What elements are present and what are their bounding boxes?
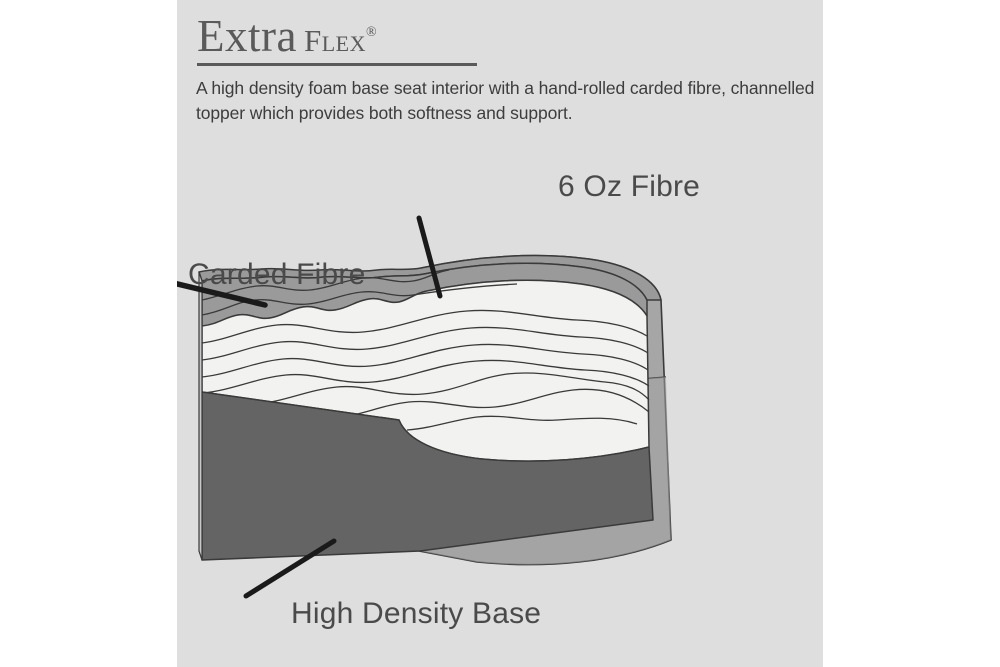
callout-label-6oz-fibre: 6 Oz Fibre — [558, 170, 700, 204]
content-panel: ExtraFlex® A high density foam base seat… — [177, 0, 823, 667]
page-root: ExtraFlex® A high density foam base seat… — [0, 0, 1000, 667]
cutaway-left-side-panel — [199, 272, 202, 560]
callout-label-high-density-base: High Density Base — [291, 597, 541, 631]
cushion-cutaway-diagram — [177, 0, 823, 667]
callout-label-carded-fibre: Carded Fibre — [188, 258, 365, 292]
